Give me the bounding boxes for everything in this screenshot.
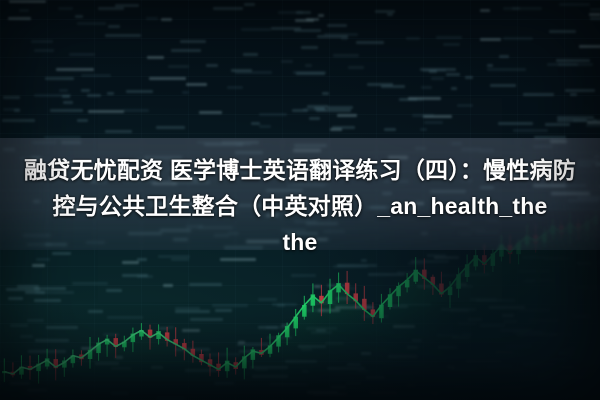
page-title-line-2: 控与公共卫生整合（中英对照）_an_health_the (0, 188, 600, 224)
banner-image: 融贷无忧配资 医学博士英语翻译练习（四）：慢性病防 控与公共卫生整合（中英对照）… (0, 0, 600, 400)
page-title: 融贷无忧配资 医学博士英语翻译练习（四）：慢性病防 控与公共卫生整合（中英对照）… (0, 152, 600, 260)
page-title-line-3: the (0, 224, 600, 260)
page-title-line-1: 融贷无忧配资 医学博士英语翻译练习（四）：慢性病防 (0, 152, 600, 188)
